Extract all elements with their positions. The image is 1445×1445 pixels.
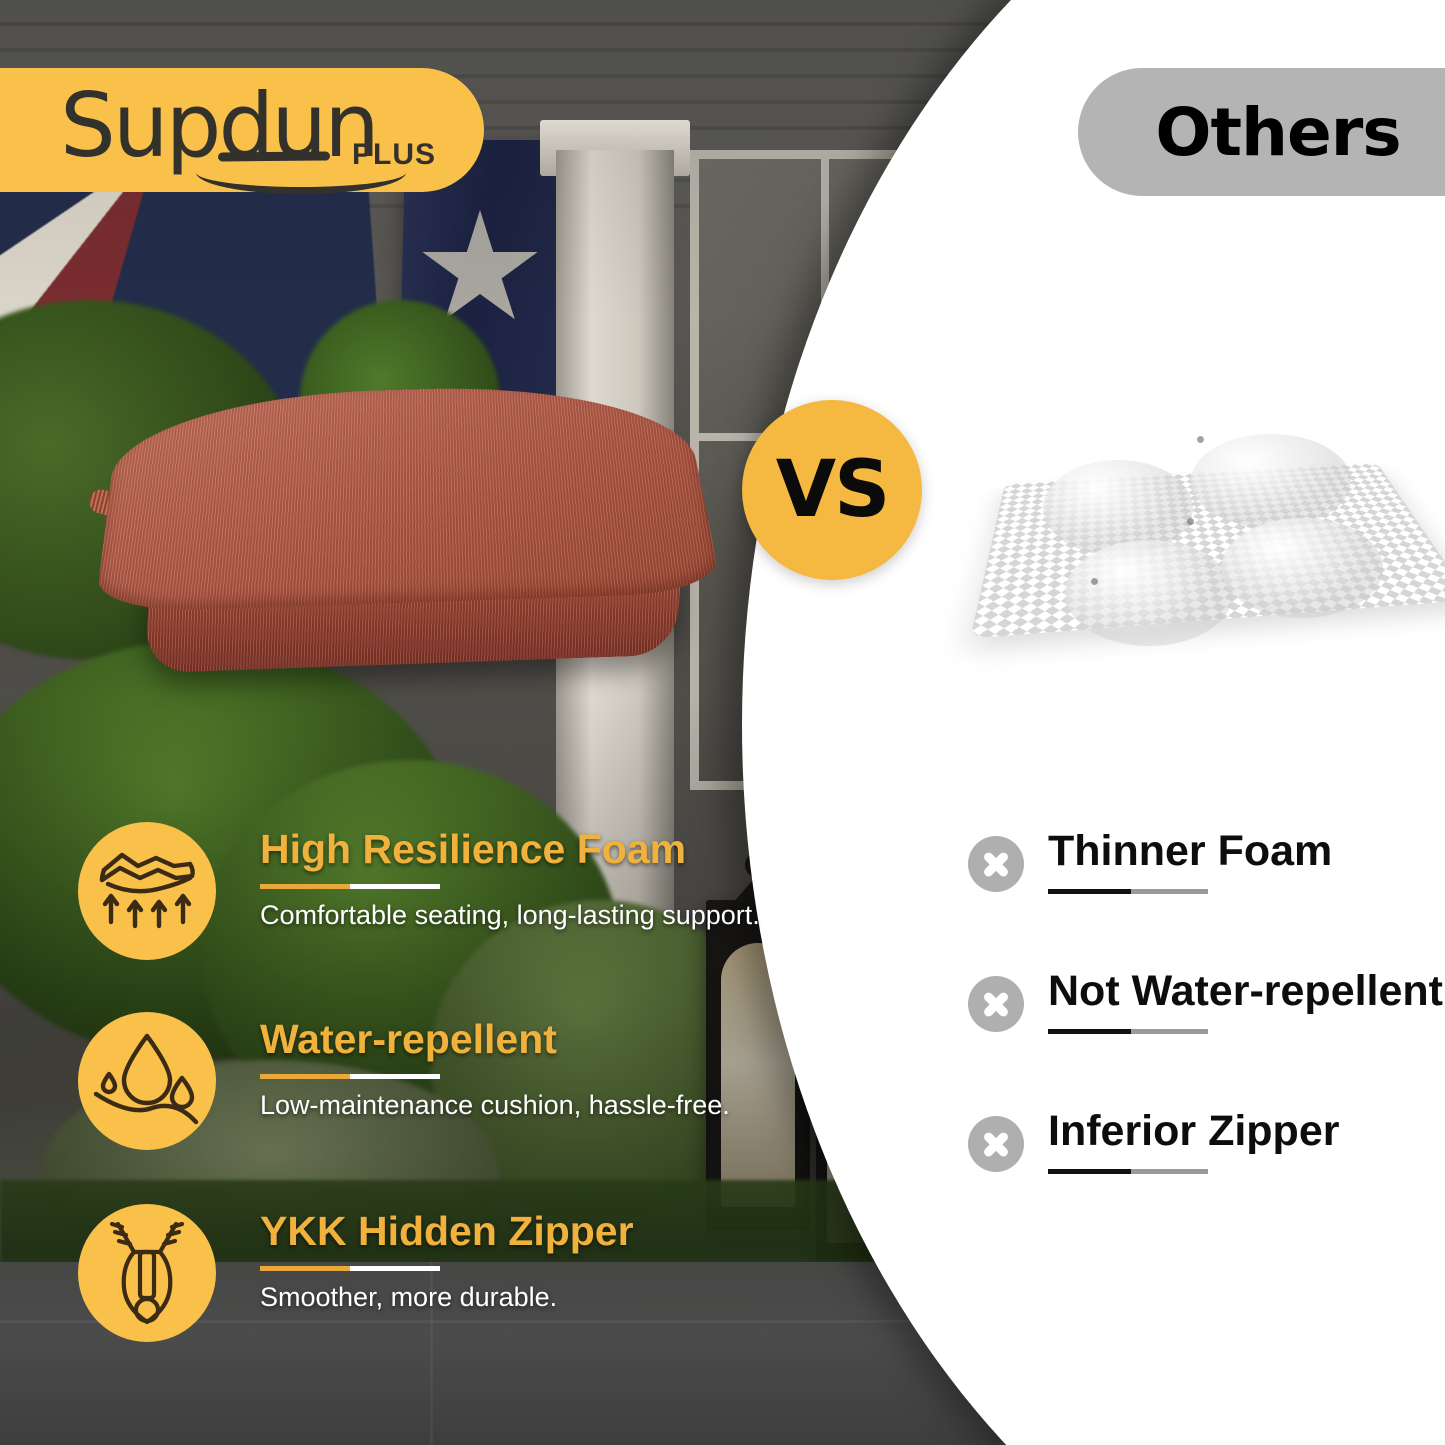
drawback-title: Thinner Foam bbox=[1048, 828, 1445, 875]
drawback-text-block: Inferior Zipper bbox=[1048, 1108, 1445, 1174]
feature-subtitle: Comfortable seating, long-lasting suppor… bbox=[260, 899, 740, 931]
feature-text-block: Water-repellent Low-maintenance cushion,… bbox=[260, 1018, 740, 1121]
cushion-puff bbox=[1065, 540, 1233, 646]
feature-subtitle: Low-maintenance cushion, hassle-free. bbox=[260, 1089, 740, 1121]
drawback-text-block: Not Water-repellent bbox=[1048, 968, 1445, 1034]
feature-divider bbox=[260, 1074, 440, 1079]
feature-icon-badge bbox=[78, 822, 216, 960]
feature-text-block: YKK Hidden Zipper Smoother, more durable… bbox=[260, 1210, 740, 1313]
body-support-arrows-icon bbox=[78, 822, 216, 960]
x-circle-icon bbox=[968, 976, 1024, 1032]
zipper-icon bbox=[78, 1204, 216, 1342]
feature-item-high-resilience-foam: High Resilience Foam Comfortable seating… bbox=[78, 822, 738, 972]
cushion-puff bbox=[1191, 434, 1351, 528]
feature-title: YKK Hidden Zipper bbox=[260, 1210, 740, 1253]
drawback-divider bbox=[1048, 1029, 1208, 1034]
drawback-title: Inferior Zipper bbox=[1048, 1108, 1445, 1155]
drawback-item-not-water-repellent: Not Water-repellent bbox=[968, 968, 1438, 1098]
versus-badge: VS bbox=[742, 400, 922, 580]
x-circle-icon bbox=[968, 836, 1024, 892]
feature-divider bbox=[260, 1266, 440, 1271]
feature-subtitle: Smoother, more durable. bbox=[260, 1281, 740, 1313]
others-label-badge: Others bbox=[1078, 68, 1445, 196]
versus-label: VS bbox=[776, 445, 889, 535]
feature-divider bbox=[260, 884, 440, 889]
cushion-top-surface bbox=[95, 382, 723, 613]
feature-text-block: High Resilience Foam Comfortable seating… bbox=[260, 828, 740, 931]
feature-title: High Resilience Foam bbox=[260, 828, 740, 871]
feature-icon-badge bbox=[78, 1204, 216, 1342]
cushion-tuft bbox=[1091, 578, 1098, 585]
x-circle-icon bbox=[968, 1116, 1024, 1172]
brand-logo-wordmark: Supdun PLUS bbox=[0, 68, 484, 192]
drawback-divider bbox=[1048, 1169, 1208, 1174]
drawback-title: Not Water-repellent bbox=[1048, 968, 1445, 1015]
product-cushion-image bbox=[96, 372, 716, 682]
feature-item-water-repellent: Water-repellent Low-maintenance cushion,… bbox=[78, 1012, 738, 1162]
comparison-infographic: ★ ★ ★ ★ ★ ★ bbox=[0, 0, 1445, 1445]
water-droplet-repel-icon bbox=[78, 1012, 216, 1150]
others-label-text: Others bbox=[1155, 94, 1400, 171]
cushion-puff bbox=[1221, 518, 1383, 618]
drawback-divider bbox=[1048, 889, 1208, 894]
feature-item-ykk-hidden-zipper: YKK Hidden Zipper Smoother, more durable… bbox=[78, 1204, 738, 1354]
drawback-text-block: Thinner Foam bbox=[1048, 828, 1445, 894]
brand-logo-badge: Supdun PLUS bbox=[0, 68, 484, 192]
brand-plus-text: PLUS bbox=[352, 138, 436, 172]
competitor-cushion-image bbox=[995, 400, 1425, 670]
feature-icon-badge bbox=[78, 1012, 216, 1150]
feature-title: Water-repellent bbox=[260, 1018, 740, 1061]
cushion-tuft bbox=[1197, 436, 1204, 443]
cushion-tuft bbox=[1187, 518, 1194, 525]
drawback-item-inferior-zipper: Inferior Zipper bbox=[968, 1108, 1438, 1238]
logo-flourish-bar bbox=[218, 152, 330, 162]
drawback-item-thinner-foam: Thinner Foam bbox=[968, 828, 1438, 958]
